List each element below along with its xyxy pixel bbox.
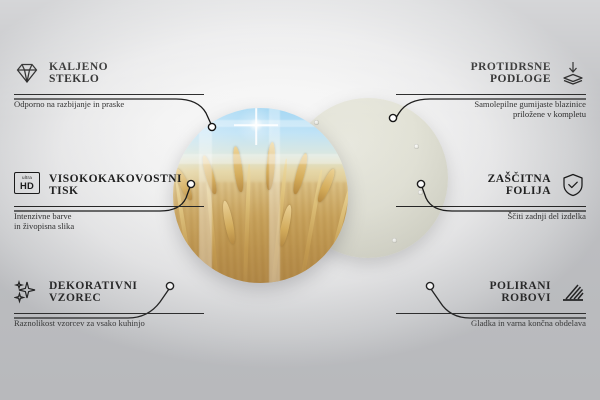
feature-subtitle-line1: Raznolikost vzorcev za vsako kuhinjo [14, 318, 204, 328]
feature-subtitle-line1: Samolepilne gumijaste blazinice [396, 99, 586, 109]
feature-anti-slip-pads: PROTIDRSNE PODLOGE Samolepilne gumijaste… [396, 56, 586, 120]
feature-high-quality-print: ultraHD VISOKOKAKOVOSTNI TISK Intenzivne… [14, 168, 204, 232]
feature-protective-film: ZAŠČITNA FOLIJA Ščiti zadnji del izdelka [396, 168, 586, 221]
feature-title-line1: DEKORATIVNI [49, 280, 137, 293]
feature-title-line1: ZAŠČITNA [488, 173, 551, 186]
divider [14, 206, 204, 207]
diamond-icon [14, 60, 40, 86]
hatched-triangle-icon [560, 279, 586, 305]
feature-title-line2: ROBOVI [489, 292, 551, 305]
feature-subtitle-line1: Intenzivne barve [14, 211, 204, 221]
connector-endpoint [208, 123, 215, 130]
feature-polished-edges: POLIRANI ROBOVI Gladka in varna končna o… [396, 275, 586, 328]
feature-tempered-glass: KALJENO STEKLO Odporno na razbijanje in … [14, 56, 204, 109]
feature-subtitle-line2: in živopisna slika [14, 221, 204, 231]
feature-title-line1: KALJENO [49, 61, 108, 74]
feature-title-line2: PODLOGE [471, 73, 551, 86]
infographic-canvas: KALJENO STEKLO Odporno na razbijanje in … [0, 0, 600, 400]
shield-check-icon [560, 172, 586, 198]
divider [396, 313, 586, 314]
divider [14, 94, 204, 95]
feature-subtitle-line1: Odporno na razbijanje in praske [14, 99, 204, 109]
feature-decorative-pattern: DEKORATIVNI VZOREC Raznolikost vzorcev z… [14, 275, 204, 328]
feature-title-line1: PROTIDRSNE [471, 61, 551, 74]
feature-title-line2: TISK [49, 185, 182, 198]
feature-title-line1: POLIRANI [489, 280, 551, 293]
feature-subtitle-line2: priložene v kompletu [396, 109, 586, 119]
feature-title-line1: VISOKOKAKOVOSTNI [49, 173, 182, 186]
feature-subtitle-line1: Ščiti zadnji del izdelka [396, 211, 586, 221]
divider [396, 94, 586, 95]
feature-title-line2: FOLIJA [488, 185, 551, 198]
feature-subtitle-line1: Gladka in varna končna obdelava [396, 318, 586, 328]
sparkles-icon [14, 279, 40, 305]
feature-title-line2: STEKLO [49, 73, 108, 86]
divider [396, 206, 586, 207]
divider [14, 313, 204, 314]
press-down-icon [560, 60, 586, 86]
ultra-hd-icon: ultraHD [14, 172, 40, 198]
feature-title-line2: VZOREC [49, 292, 137, 305]
